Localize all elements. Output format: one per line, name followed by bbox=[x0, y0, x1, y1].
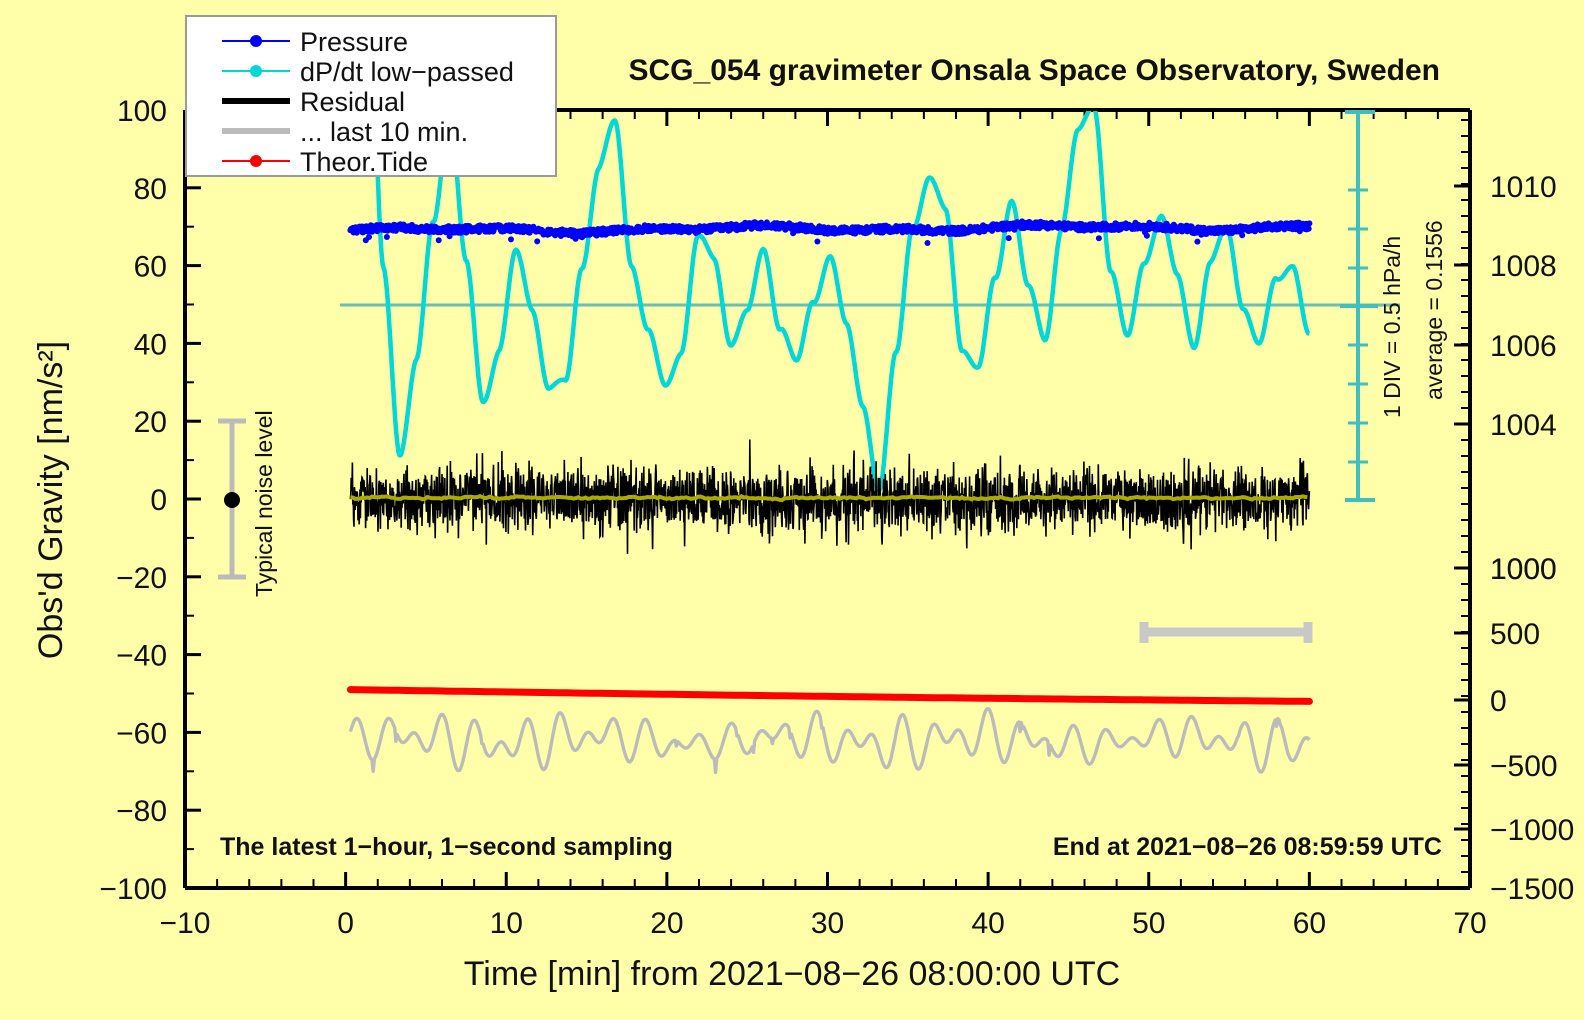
x-tick-label: 30 bbox=[811, 907, 844, 940]
y-right-tide-tick: 0 bbox=[1490, 685, 1507, 718]
page-title: SCG_054 gravimeter Onsala Space Observat… bbox=[629, 54, 1441, 87]
y-right-pressure-tick: 1006 bbox=[1490, 330, 1557, 363]
y-right-tide-tick: −1500 bbox=[1490, 873, 1574, 906]
y-axis-label: Obs'd Gravity [nm/s²] bbox=[32, 341, 70, 659]
y-right-tide-tick: −500 bbox=[1490, 750, 1558, 783]
x-tick-label: 20 bbox=[650, 907, 683, 940]
y-tick-label: 80 bbox=[134, 173, 167, 206]
y-tick-label: 0 bbox=[150, 484, 167, 517]
y-tick-label: 20 bbox=[134, 406, 167, 439]
y-tick-label: −40 bbox=[116, 640, 167, 673]
legend-item-label[interactable]: Theor.Tide bbox=[300, 147, 428, 177]
legend-item-label[interactable]: Residual bbox=[300, 87, 405, 117]
x-axis-label: Time [min] from 2021−08−26 08:00:00 UTC bbox=[464, 955, 1120, 993]
gravimeter-chart: −10010203040506070 100806040200−20−40−60… bbox=[0, 0, 1584, 1020]
y-tick-label: −80 bbox=[116, 795, 167, 828]
y-right-pressure-tick: 1010 bbox=[1490, 171, 1557, 204]
x-tick-label: 50 bbox=[1132, 907, 1165, 940]
legend: PressuredP/dt low−passedResidual... last… bbox=[186, 16, 556, 177]
y-tick-label: 100 bbox=[117, 95, 167, 128]
footer-left: The latest 1−hour, 1−second sampling bbox=[220, 833, 673, 861]
legend-item-label[interactable]: dP/dt low−passed bbox=[300, 57, 514, 87]
y-right-pressure-tick: 1004 bbox=[1490, 409, 1557, 442]
y-right-pressure-tick: 1008 bbox=[1490, 250, 1557, 283]
y-tick-label: −100 bbox=[99, 873, 167, 906]
x-tick-label: 60 bbox=[1293, 907, 1326, 940]
y-right-tide-tick: −1000 bbox=[1490, 814, 1574, 847]
legend-marker-dot bbox=[250, 35, 262, 47]
x-tick-label: 0 bbox=[337, 907, 354, 940]
legend-item-label[interactable]: Pressure bbox=[300, 27, 408, 57]
legend-item-label[interactable]: ... last 10 min. bbox=[300, 117, 468, 147]
x-tick-label: 10 bbox=[490, 907, 523, 940]
footer-right: End at 2021−08−26 08:59:59 UTC bbox=[1053, 833, 1442, 861]
y-tick-label: 60 bbox=[134, 251, 167, 284]
figure-root: −10010203040506070 100806040200−20−40−60… bbox=[0, 0, 1584, 1020]
y-tick-label: 40 bbox=[134, 328, 167, 361]
legend-marker-dot bbox=[250, 65, 262, 77]
x-tick-label: −10 bbox=[160, 907, 211, 940]
typical-noise-level-label: Typical noise level bbox=[251, 410, 277, 597]
average-label: average = 0.1556 bbox=[1421, 220, 1447, 400]
y-tick-label: −60 bbox=[116, 717, 167, 750]
y-right-tide-tick: 1000 bbox=[1490, 553, 1557, 586]
x-tick-label: 70 bbox=[1453, 907, 1486, 940]
x-tick-label: 40 bbox=[971, 907, 1004, 940]
scale-div-label: 1 DIV = 0.5 hPa/h bbox=[1379, 236, 1405, 418]
y-tick-label: −20 bbox=[116, 562, 167, 595]
y-right-tide-tick: 500 bbox=[1490, 618, 1540, 651]
legend-marker-dot bbox=[250, 155, 262, 167]
residual-smoothed-trace bbox=[350, 496, 1307, 500]
